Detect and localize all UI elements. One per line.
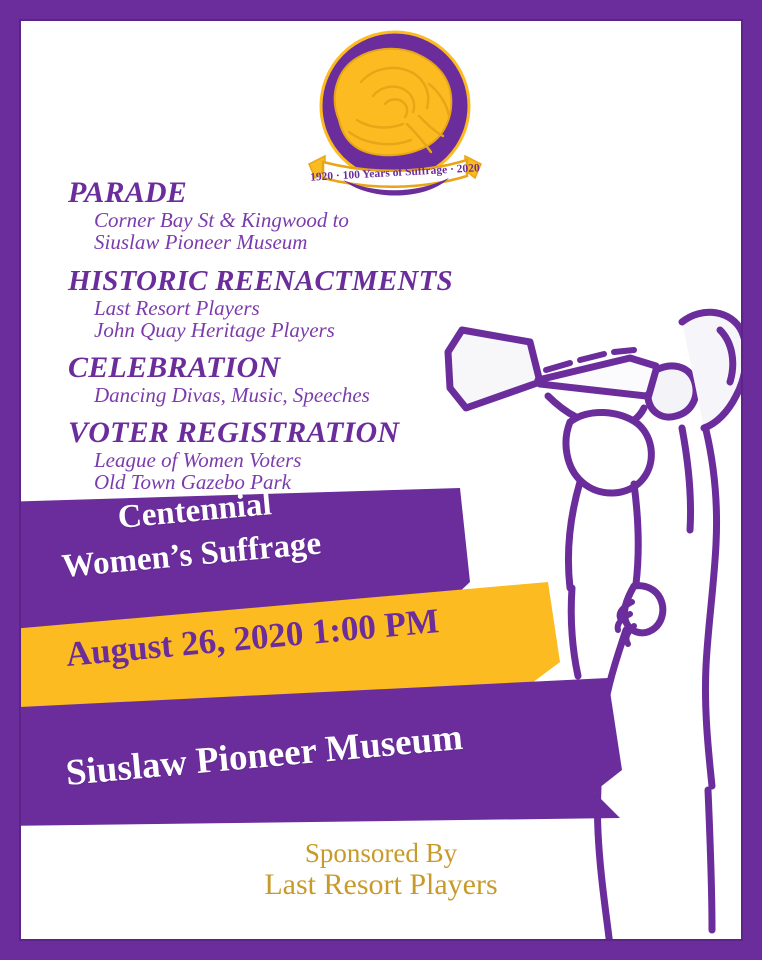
sponsor-name: Last Resort Players xyxy=(0,868,762,902)
event-detail-line: Corner Bay St & Kingwood to xyxy=(94,209,538,231)
event-detail-line: League of Women Voters xyxy=(94,449,538,471)
event-detail-line: Siuslaw Pioneer Museum xyxy=(94,231,538,253)
event-item-celebration: CELEBRATION Dancing Divas, Music, Speech… xyxy=(68,353,538,406)
event-list: PARADE Corner Bay St & Kingwood to Siusl… xyxy=(68,178,538,503)
event-detail-line: Last Resort Players xyxy=(94,297,538,319)
event-item-historic-reenactments: HISTORIC REENACTMENTS Last Resort Player… xyxy=(68,267,538,341)
suffrage-centennial-rose-seal: 1920 · 100 Years of Suffrage · 2020 xyxy=(299,24,491,202)
sponsor-label: Sponsored By xyxy=(0,838,762,868)
event-heading: HISTORIC REENACTMENTS xyxy=(68,267,538,297)
event-detail-line: John Quay Heritage Players xyxy=(94,319,538,341)
ribbon-banner-group xyxy=(0,470,762,840)
suffrage-centennial-poster: 1920 · 100 Years of Suffrage · 2020 PARA… xyxy=(0,0,762,960)
event-heading: CELEBRATION xyxy=(68,353,538,384)
event-detail-line: Dancing Divas, Music, Speeches xyxy=(94,384,538,406)
sponsor-block: Sponsored By Last Resort Players xyxy=(0,838,762,902)
event-heading: VOTER REGISTRATION xyxy=(68,418,538,449)
